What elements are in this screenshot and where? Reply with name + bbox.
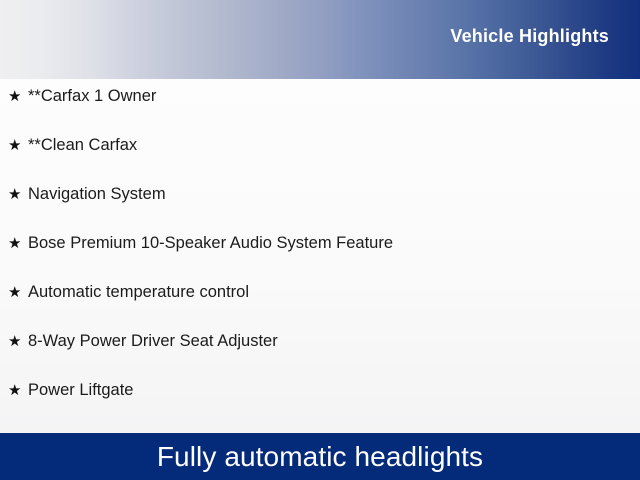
list-item: ★ Power Liftgate bbox=[0, 382, 640, 431]
list-item-label: Bose Premium 10-Speaker Audio System Fea… bbox=[28, 235, 640, 252]
list-item-label: 8-Way Power Driver Seat Adjuster bbox=[28, 333, 640, 350]
list-item: ★ **Carfax 1 Owner bbox=[0, 88, 640, 137]
list-item: ★ Navigation System bbox=[0, 186, 640, 235]
list-item-label: Automatic temperature control bbox=[28, 284, 640, 301]
star-icon: ★ bbox=[8, 236, 28, 251]
vehicle-highlights-panel: Vehicle Highlights ★ **Carfax 1 Owner ★ … bbox=[0, 0, 640, 480]
star-icon: ★ bbox=[8, 334, 28, 349]
list-item: ★ Automatic temperature control bbox=[0, 284, 640, 333]
star-icon: ★ bbox=[8, 383, 28, 398]
header-banner: Vehicle Highlights bbox=[0, 0, 640, 79]
footer-caption-text: Fully automatic headlights bbox=[157, 443, 483, 471]
star-icon: ★ bbox=[8, 89, 28, 104]
list-item: ★ 8-Way Power Driver Seat Adjuster bbox=[0, 333, 640, 382]
list-item-label: Power Liftgate bbox=[28, 382, 640, 399]
list-item-label: **Clean Carfax bbox=[28, 137, 640, 154]
footer-caption-bar: Fully automatic headlights bbox=[0, 433, 640, 480]
highlights-content: ★ **Carfax 1 Owner ★ **Clean Carfax ★ Na… bbox=[0, 79, 640, 433]
highlights-list: ★ **Carfax 1 Owner ★ **Clean Carfax ★ Na… bbox=[0, 88, 640, 431]
page-title: Vehicle Highlights bbox=[450, 27, 609, 45]
star-icon: ★ bbox=[8, 285, 28, 300]
list-item: ★ Bose Premium 10-Speaker Audio System F… bbox=[0, 235, 640, 284]
list-item-label: Navigation System bbox=[28, 186, 640, 203]
list-item-label: **Carfax 1 Owner bbox=[28, 88, 640, 105]
star-icon: ★ bbox=[8, 138, 28, 153]
list-item: ★ **Clean Carfax bbox=[0, 137, 640, 186]
star-icon: ★ bbox=[8, 187, 28, 202]
